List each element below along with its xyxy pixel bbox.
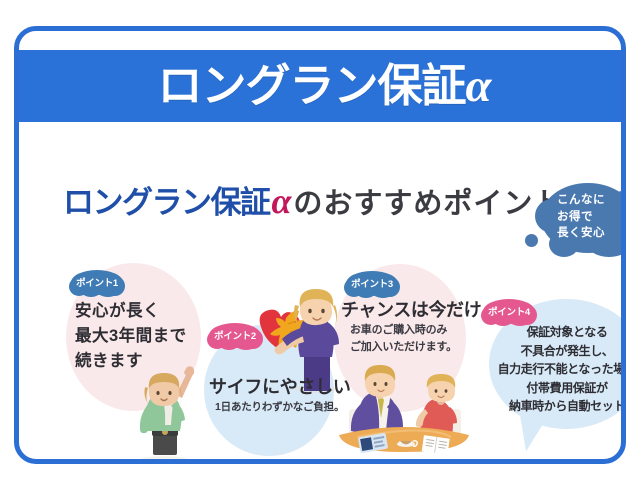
- point-3-subtext-line-1: お車のご購入時のみ: [350, 322, 457, 339]
- title-banner: ロングラン保証α: [17, 50, 626, 122]
- point-2-badge: ポイント2: [207, 322, 263, 350]
- point-3-subtext: お車のご購入時のみ ご加入いただけます。: [350, 322, 457, 355]
- point-4-heading: 保証対象となる 不具合が発生し、 自力走行不能となった場合 付帯費用保証が 納車…: [489, 323, 626, 416]
- subtitle-brand: ロングラン保証: [63, 185, 270, 221]
- cloud-line-1: こんなに: [557, 192, 626, 209]
- advertisement-root: ロングラン保証α ロングラン保証αのおすすめポイント こんなに お得で 長く安心: [0, 0, 640, 480]
- woman-green-illustration: [127, 361, 201, 464]
- point-2-heading: サイフにやさしい: [209, 374, 351, 401]
- point-4-heading-line-3: 自力走行不能となった場合: [489, 360, 626, 379]
- banner-title-main: ロングラン保証: [157, 60, 465, 111]
- point-2-subtext: 1日あたりわずかなご負担。: [215, 400, 344, 416]
- consultation-table-illustration: [337, 361, 471, 457]
- point-4-badge: ポイント4: [481, 298, 537, 326]
- point-3-subtext-line-2: ご加入いただけます。: [350, 339, 457, 356]
- point-1-badge-label: ポイント1: [69, 275, 125, 289]
- point-2-heading-line-1: サイフにやさしい: [209, 374, 351, 401]
- point-4-heading-line-5: 納車時から自動セット: [489, 397, 626, 416]
- banner-title-alpha: α: [466, 60, 491, 112]
- point-4-badge-label: ポイント4: [481, 304, 537, 318]
- point-3-heading-line-1: チャンスは今だけ: [341, 297, 481, 324]
- subtitle-line: ロングラン保証αのおすすめポイント: [63, 183, 563, 219]
- point-1-badge: ポイント1: [69, 269, 125, 297]
- point-2-subtext-line-1: 1日あたりわずかなご負担。: [215, 400, 344, 416]
- point-4-heading-line-2: 不具合が発生し、: [489, 342, 626, 361]
- point-3-badge: ポイント3: [344, 270, 400, 298]
- point-1-heading-line-1: 安心が長く: [75, 299, 187, 324]
- point-3-badge-label: ポイント3: [344, 276, 400, 290]
- point-1-heading-line-2: 最大3年間まで: [75, 324, 187, 349]
- poster-frame: ロングラン保証α ロングラン保証αのおすすめポイント こんなに お得で 長く安心: [14, 26, 626, 464]
- subtitle-tail: のおすすめポイント: [293, 188, 563, 220]
- point-1-heading: 安心が長く 最大3年間まで 続きます: [75, 299, 187, 373]
- point-2-badge-label: ポイント2: [207, 328, 263, 342]
- point-1-heading-line-3: 続きます: [75, 349, 187, 374]
- point-3-heading: チャンスは今だけ: [341, 297, 481, 324]
- cloud-line-2: お得で: [557, 209, 626, 226]
- subtitle-alpha: α: [270, 181, 294, 221]
- banner-title: ロングラン保証α: [157, 63, 490, 110]
- point-4-heading-line-4: 付帯費用保証が: [489, 379, 626, 398]
- cloud-bubble: こんなに お得で 長く安心: [535, 179, 626, 257]
- cloud-line-3: 長く安心: [557, 225, 626, 242]
- cloud-bubble-text: こんなに お得で 長く安心: [557, 192, 626, 242]
